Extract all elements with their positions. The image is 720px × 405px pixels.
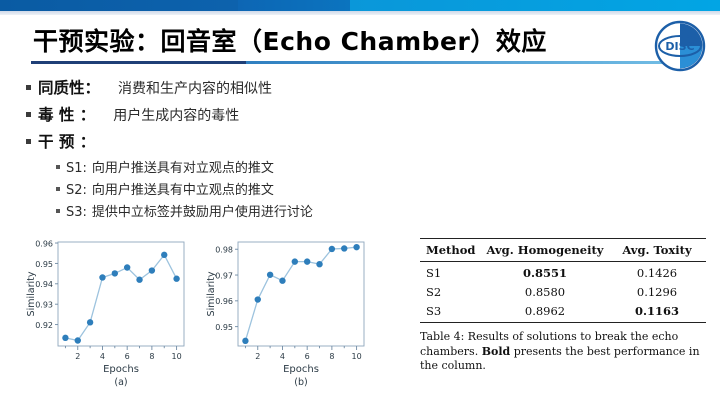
sub-bullet-value: 向用户推送具有中立观点的推文 xyxy=(92,179,274,198)
data-point-marker xyxy=(255,296,261,302)
line-chart-b: 0.950.960.970.98246810Epochs(b)Similarit… xyxy=(192,236,374,391)
data-point-marker xyxy=(124,264,130,270)
data-point-marker xyxy=(267,272,273,278)
sub-bullet-key: S3: xyxy=(66,205,87,220)
x-axis-tick-label: 10 xyxy=(171,352,181,361)
data-point-marker xyxy=(242,338,248,344)
column-header-homogeneity: Avg. Homogeneity xyxy=(482,239,608,262)
cell-homogeneity: 0.8580 xyxy=(482,283,608,302)
x-axis-label: Epochs xyxy=(103,364,139,375)
data-point-marker xyxy=(161,252,167,258)
data-point-marker xyxy=(136,277,142,283)
sub-bullet-list: S1: 向用户推送具有对立观点的推文 S2: 向用户推送具有中立观点的推文 S3… xyxy=(56,157,446,220)
data-point-marker xyxy=(87,319,93,325)
y-axis-tick-label: 0.97 xyxy=(215,271,233,280)
data-point-marker xyxy=(112,270,118,276)
bullet-value: 消费和生产内容的相似性 xyxy=(118,78,272,98)
list-item: 毒 性 ： 用户生成内容的毒性 xyxy=(26,103,446,125)
bullet-key: 同质性： xyxy=(38,76,100,98)
charts-figure: 0.920.930.940.950.96246810Epochs(a)Simil… xyxy=(12,236,384,391)
title-underline xyxy=(31,61,689,64)
data-point-marker xyxy=(353,244,359,250)
column-header-toxity: Avg. Toxity xyxy=(608,239,706,262)
data-point-marker xyxy=(279,278,285,284)
x-axis-tick-label: 4 xyxy=(100,352,105,361)
table-row: S3 0.8962 0.1163 xyxy=(420,302,706,323)
table-row: S1 0.8551 0.1426 xyxy=(420,262,706,283)
cell-toxity: 0.1426 xyxy=(608,262,706,283)
top-decorative-bar xyxy=(0,0,720,11)
cell-homogeneity: 0.8962 xyxy=(482,302,608,323)
x-axis-tick-label: 6 xyxy=(125,352,130,361)
title-underline-dark xyxy=(31,61,246,64)
title-underline-light xyxy=(246,61,689,64)
y-axis-tick-label: 0.96 xyxy=(215,297,233,306)
table-body: S1 0.8551 0.1426 S2 0.8580 0.1296 S3 0.8… xyxy=(420,262,706,323)
x-axis-tick-label: 6 xyxy=(305,352,310,361)
topbar-segment-dark xyxy=(0,0,238,11)
panel-label: (b) xyxy=(294,377,307,388)
panel-label: (a) xyxy=(114,377,127,388)
y-axis-tick-label: 0.93 xyxy=(35,301,53,310)
chart-panel-a: 0.920.930.940.950.96246810Epochs(a)Simil… xyxy=(12,236,194,391)
page-title: 干预实验：回音室（Echo Chamber）效应 xyxy=(33,22,547,58)
x-axis-tick-label: 8 xyxy=(149,352,154,361)
cell-homogeneity: 0.8551 xyxy=(482,262,608,283)
column-header-method: Method xyxy=(420,239,482,262)
list-item: S3: 提供中立标签并鼓励用户使用进行讨论 xyxy=(56,201,446,220)
sub-bullet-value: 向用户推送具有对立观点的推文 xyxy=(92,157,274,176)
data-point-marker xyxy=(316,261,322,267)
disc-logo-text: DISC xyxy=(665,40,694,53)
y-axis-tick-label: 0.98 xyxy=(215,246,233,255)
data-point-marker xyxy=(99,274,105,280)
bullet-value: 用户生成内容的毒性 xyxy=(113,105,239,125)
disc-logo-icon: DISC xyxy=(654,20,706,72)
cell-method: S1 xyxy=(420,262,482,283)
cell-method: S2 xyxy=(420,283,482,302)
y-axis-tick-label: 0.95 xyxy=(215,323,233,332)
disc-logo: DISC xyxy=(654,20,706,72)
y-axis-label: Similarity xyxy=(206,271,217,316)
bullet-square-icon xyxy=(26,139,31,144)
data-point-marker xyxy=(173,276,179,282)
list-item: 同质性： 消费和生产内容的相似性 xyxy=(26,76,446,98)
data-point-marker xyxy=(304,258,310,264)
results-table-container: Method Avg. Homogeneity Avg. Toxity S1 0… xyxy=(420,238,706,374)
data-point-marker xyxy=(62,335,68,341)
y-axis-tick-label: 0.95 xyxy=(35,260,53,269)
data-point-marker xyxy=(292,258,298,264)
line-chart-a: 0.920.930.940.950.96246810Epochs(a)Simil… xyxy=(12,236,194,391)
table-row: S2 0.8580 0.1296 xyxy=(420,283,706,302)
x-axis-tick-label: 8 xyxy=(329,352,334,361)
caption-bold-word: Bold xyxy=(482,345,511,358)
bullet-square-icon xyxy=(26,85,31,90)
x-axis-label: Epochs xyxy=(283,364,319,375)
list-item: S2: 向用户推送具有中立观点的推文 xyxy=(56,179,446,198)
topbar-segment-mid xyxy=(238,0,350,11)
list-item: 干 预 ： xyxy=(26,130,446,152)
data-point-marker xyxy=(75,337,81,343)
list-item: S1: 向用户推送具有对立观点的推文 xyxy=(56,157,446,176)
data-point-marker xyxy=(329,246,335,252)
bullet-list: 同质性： 消费和生产内容的相似性 毒 性 ： 用户生成内容的毒性 干 预 ： S… xyxy=(26,76,446,223)
chart-panel-b: 0.950.960.970.98246810Epochs(b)Similarit… xyxy=(192,236,374,391)
results-table: Method Avg. Homogeneity Avg. Toxity S1 0… xyxy=(420,238,706,323)
cell-toxity: 0.1163 xyxy=(608,302,706,323)
slide: 干预实验：回音室（Echo Chamber）效应 DISC 同质性： 消费和生产… xyxy=(0,0,720,405)
data-point-marker xyxy=(149,267,155,273)
table-header-row: Method Avg. Homogeneity Avg. Toxity xyxy=(420,239,706,262)
bullet-key: 毒 性 ： xyxy=(38,103,95,125)
y-axis-tick-label: 0.96 xyxy=(35,239,53,248)
data-point-marker xyxy=(341,245,347,251)
cell-toxity: 0.1296 xyxy=(608,283,706,302)
bullet-key: 干 预 ： xyxy=(38,130,95,152)
y-axis-label: Similarity xyxy=(26,271,37,316)
topbar-segment-light xyxy=(350,0,720,11)
bullet-square-icon xyxy=(26,112,31,117)
cell-method: S3 xyxy=(420,302,482,323)
x-axis-tick-label: 4 xyxy=(280,352,285,361)
bullet-square-icon xyxy=(56,209,60,213)
sub-bullet-key: S1: xyxy=(66,161,87,176)
topbar-shadow xyxy=(0,11,720,15)
y-axis-tick-label: 0.92 xyxy=(35,321,53,330)
y-axis-tick-label: 0.94 xyxy=(35,280,53,289)
sub-bullet-key: S2: xyxy=(66,183,87,198)
bullet-square-icon xyxy=(56,165,60,169)
x-axis-tick-label: 2 xyxy=(255,352,260,361)
table-caption: Table 4: Results of solutions to break t… xyxy=(420,330,706,374)
x-axis-tick-label: 2 xyxy=(75,352,80,361)
sub-bullet-value: 提供中立标签并鼓励用户使用进行讨论 xyxy=(92,201,313,220)
bullet-square-icon xyxy=(56,187,60,191)
x-axis-tick-label: 10 xyxy=(351,352,361,361)
table-head: Method Avg. Homogeneity Avg. Toxity xyxy=(420,239,706,262)
